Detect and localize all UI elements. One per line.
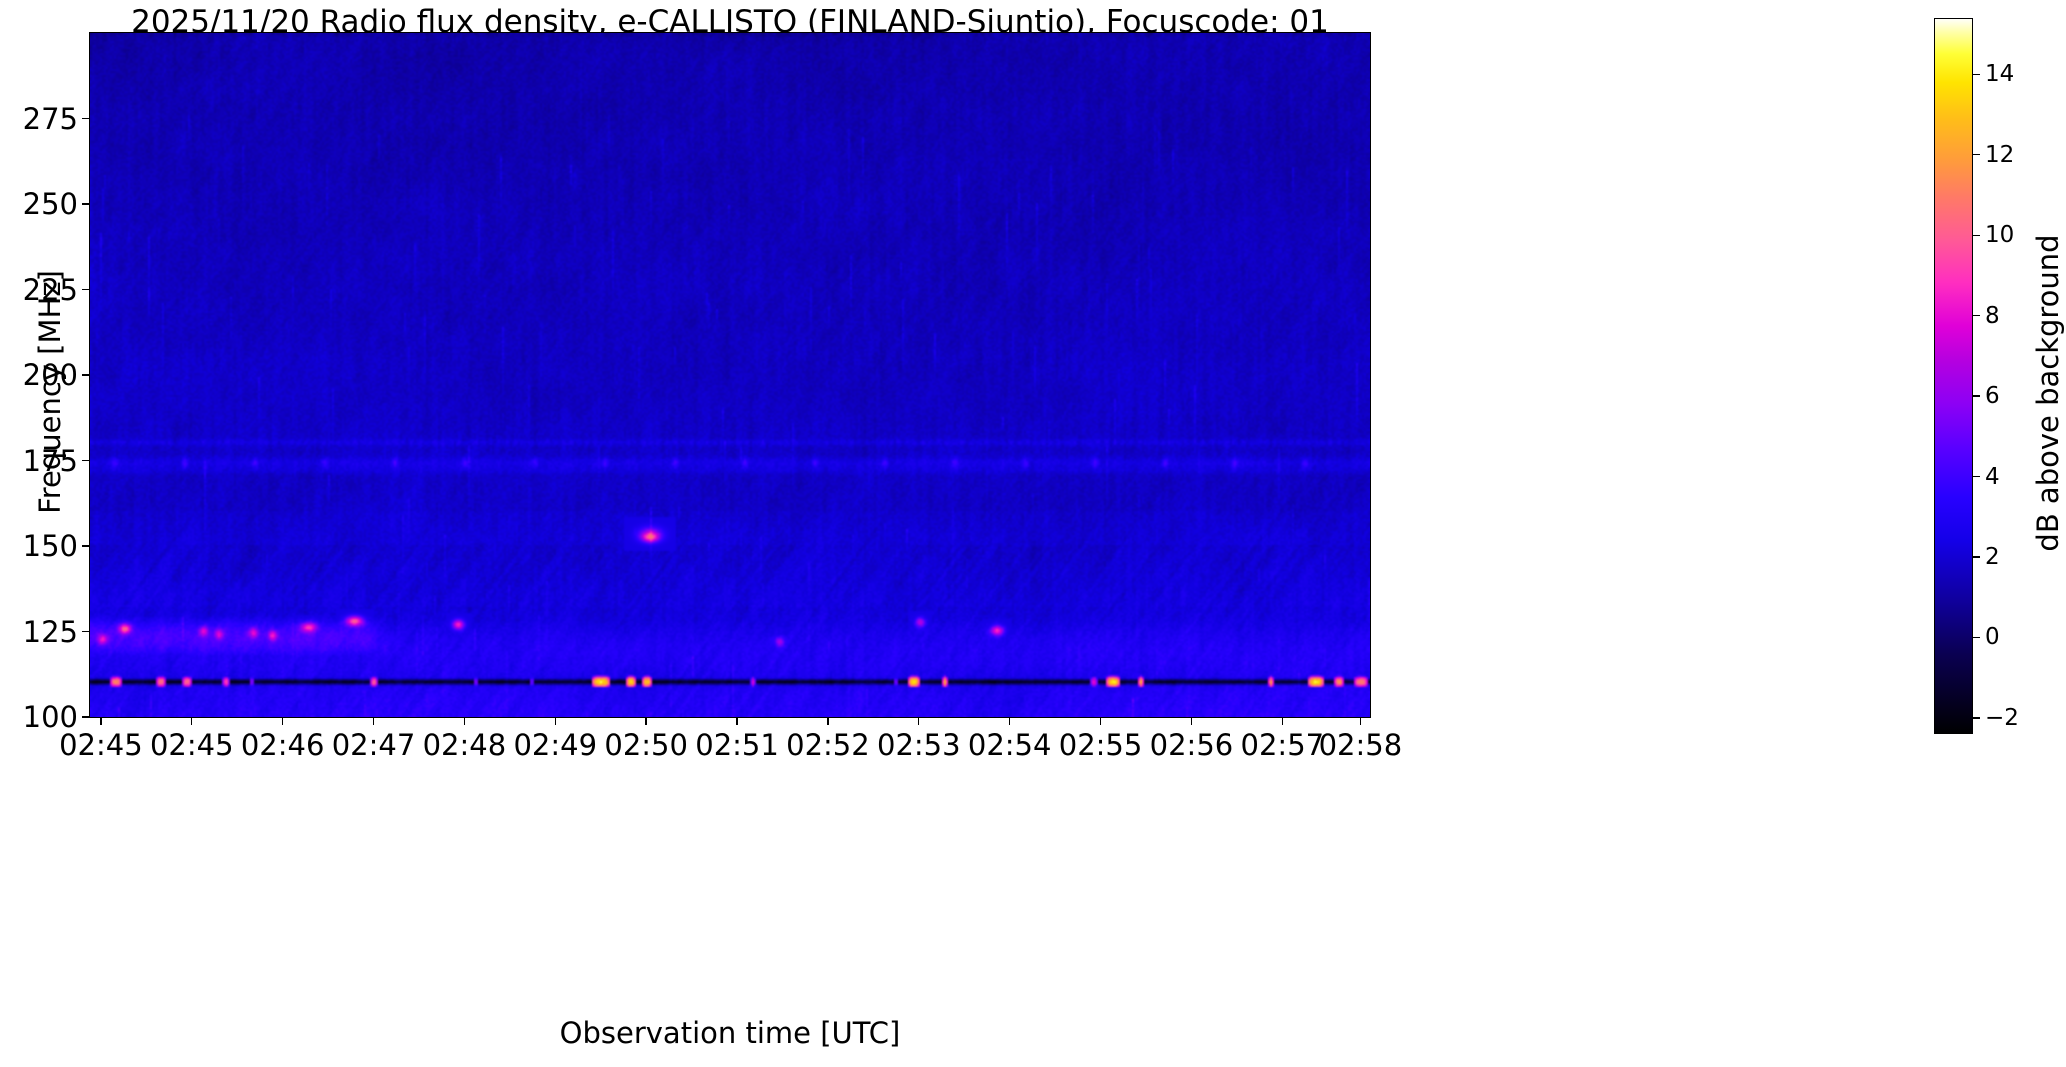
x-tick-mark xyxy=(1191,718,1192,725)
x-tick-label: 02:52 xyxy=(786,728,870,762)
axis-spine-left xyxy=(89,32,90,718)
colorbar-tick-label: 2 xyxy=(1985,544,2000,570)
colorbar-tick-mark xyxy=(1973,235,1980,236)
colorbar-tick-mark xyxy=(1973,74,1980,75)
x-tick-mark xyxy=(100,718,101,725)
x-tick-label: 02:58 xyxy=(1319,728,1403,762)
x-tick-mark xyxy=(1282,718,1283,725)
x-tick-label: 02:46 xyxy=(241,728,325,762)
y-tick-mark xyxy=(82,374,89,375)
colorbar xyxy=(1934,18,1973,734)
colorbar-tick-mark xyxy=(1973,395,1980,396)
colorbar-tick-label: −2 xyxy=(1985,705,2019,731)
y-tick-mark xyxy=(82,460,89,461)
y-tick-mark xyxy=(82,631,89,632)
x-tick-label: 02:50 xyxy=(604,728,688,762)
x-tick-mark xyxy=(918,718,919,725)
colorbar-tick-mark xyxy=(1973,637,1980,638)
colorbar-tick-mark xyxy=(1973,556,1980,557)
y-tick-mark xyxy=(82,716,89,717)
x-tick-label: 02:55 xyxy=(1059,728,1143,762)
x-tick-label: 02:57 xyxy=(1241,728,1325,762)
y-tick-mark xyxy=(82,203,89,204)
colorbar-tick-label: 6 xyxy=(1985,383,2000,409)
colorbar-tick-label: 10 xyxy=(1985,222,2014,248)
x-tick-mark xyxy=(555,718,556,725)
colorbar-gradient xyxy=(1934,18,1973,734)
x-tick-label: 02:45 xyxy=(150,728,234,762)
x-tick-label: 02:47 xyxy=(332,728,416,762)
colorbar-tick-mark xyxy=(1973,315,1980,316)
x-tick-mark xyxy=(191,718,192,725)
colorbar-tick-mark xyxy=(1973,476,1980,477)
y-tick-mark xyxy=(82,545,89,546)
y-tick-label: 275 xyxy=(23,102,78,136)
x-tick-mark xyxy=(373,718,374,725)
x-tick-label: 02:48 xyxy=(423,728,507,762)
x-tick-label: 02:45 xyxy=(59,728,143,762)
x-tick-mark xyxy=(1360,718,1361,725)
colorbar-tick-mark xyxy=(1973,717,1980,718)
x-tick-label: 02:54 xyxy=(968,728,1052,762)
x-tick-label: 02:51 xyxy=(695,728,779,762)
x-tick-mark xyxy=(827,718,828,725)
spectrogram-figure: 2025/11/20 Radio flux density, e-CALLIST… xyxy=(0,0,2066,1067)
colorbar-tick-label: 8 xyxy=(1985,303,2000,329)
axis-spine-top xyxy=(89,32,1371,33)
y-tick-mark xyxy=(82,289,89,290)
colorbar-tick-label: 14 xyxy=(1985,61,2014,87)
x-tick-mark xyxy=(1100,718,1101,725)
x-tick-mark xyxy=(464,718,465,725)
x-tick-mark xyxy=(282,718,283,725)
y-axis-label: Frequency [MHz] xyxy=(33,182,67,602)
x-tick-label: 02:49 xyxy=(513,728,597,762)
spectrogram-plot-area[interactable] xyxy=(90,33,1370,717)
axis-spine-right xyxy=(1370,32,1371,718)
spectrogram-image xyxy=(90,33,1370,717)
colorbar-label: dB above background xyxy=(2031,183,2065,603)
x-tick-label: 02:53 xyxy=(877,728,961,762)
colorbar-tick-label: 12 xyxy=(1985,142,2014,168)
colorbar-tick-label: 0 xyxy=(1985,624,2000,650)
x-tick-mark xyxy=(645,718,646,725)
y-tick-label: 125 xyxy=(23,615,78,649)
x-tick-mark xyxy=(736,718,737,725)
y-tick-mark xyxy=(82,118,89,119)
x-axis-label: Observation time [UTC] xyxy=(90,1016,1370,1050)
x-tick-mark xyxy=(1009,718,1010,725)
colorbar-tick-label: 4 xyxy=(1985,464,2000,490)
x-tick-label: 02:56 xyxy=(1150,728,1234,762)
colorbar-tick-mark xyxy=(1973,154,1980,155)
